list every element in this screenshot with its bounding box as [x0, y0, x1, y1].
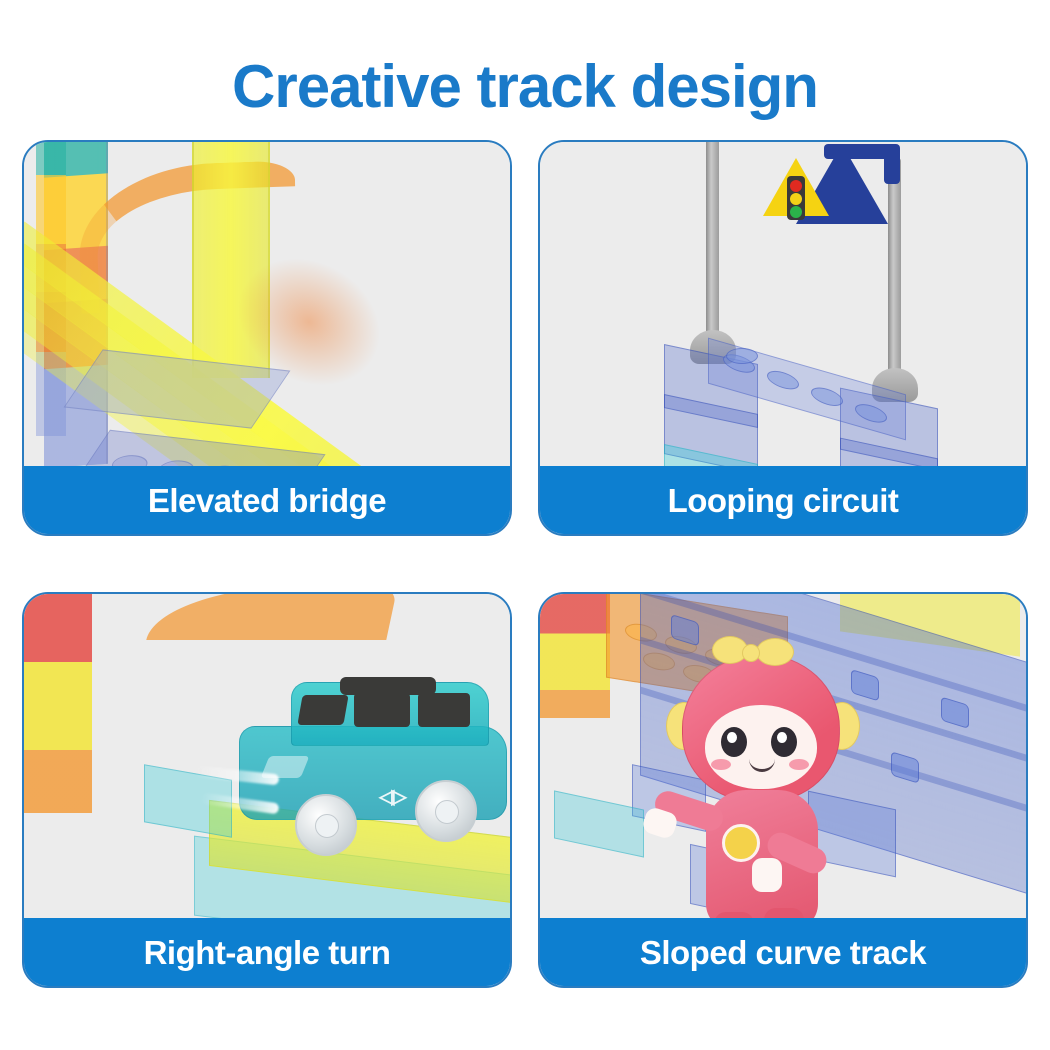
feature-card-elevated-bridge[interactable]: Elevated bridge — [22, 140, 512, 536]
red-yellow-brick-stack — [540, 594, 610, 718]
character-cheek-left — [711, 759, 731, 770]
traffic-light-warning-sign — [750, 142, 930, 232]
character-cheek-right — [789, 759, 809, 770]
feature-card-grid: Elevated bridge — [22, 140, 1028, 1030]
character-leg-right — [764, 908, 804, 918]
car-window-rear — [418, 693, 470, 727]
sign-triangle — [796, 144, 888, 224]
traffic-light-green — [790, 206, 802, 218]
car-window-front — [297, 695, 348, 725]
page-title: Creative track design — [0, 52, 1050, 121]
cartoon-character-figurine — [660, 640, 870, 918]
car-window-mid — [354, 693, 410, 727]
traffic-light-yellow — [790, 193, 802, 205]
traffic-light-body — [787, 176, 805, 220]
character-chest-badge — [722, 824, 760, 862]
cyan-brick-left — [554, 790, 644, 857]
orange-curve-top — [146, 594, 397, 640]
span-stud-top — [726, 348, 758, 364]
car-wheel-rear — [415, 780, 477, 842]
traffic-light-red — [790, 180, 802, 192]
character-eye-right — [771, 727, 797, 757]
product-photo-elevated-bridge — [24, 142, 510, 466]
infographic-page: Creative track design — [0, 0, 1050, 1050]
character-head — [682, 654, 840, 802]
car-door-logo: ◁▷ — [379, 784, 404, 809]
product-photo-sloped-curve-track — [540, 594, 1026, 918]
feature-card-right-angle-turn[interactable]: ◁▷ Right-angle turn — [22, 592, 512, 988]
car-wheel-front — [295, 794, 357, 856]
card-caption-looping-circuit: Looping circuit — [538, 466, 1028, 536]
character-eye-left — [721, 727, 747, 757]
character-face — [705, 705, 817, 789]
character-glove-right — [752, 858, 782, 892]
lamp-pole-left — [706, 142, 719, 338]
feature-card-sloped-curve-track[interactable]: Sloped curve track — [538, 592, 1028, 988]
card-caption-elevated-bridge: Elevated bridge — [22, 466, 512, 536]
toy-suv-car: ◁▷ — [229, 674, 510, 864]
card-caption-right-angle-turn: Right-angle turn — [22, 918, 512, 988]
product-photo-looping-circuit — [540, 142, 1026, 466]
product-photo-right-angle-turn: ◁▷ — [24, 594, 510, 918]
car-cabin — [291, 682, 489, 746]
character-bow-knot — [742, 644, 760, 662]
feature-card-looping-circuit[interactable]: Looping circuit — [538, 140, 1028, 536]
card-caption-sloped-curve-track: Sloped curve track — [538, 918, 1028, 988]
character-bow-right — [756, 638, 794, 666]
character-mouth — [749, 757, 775, 772]
car-sunroof — [340, 677, 436, 695]
